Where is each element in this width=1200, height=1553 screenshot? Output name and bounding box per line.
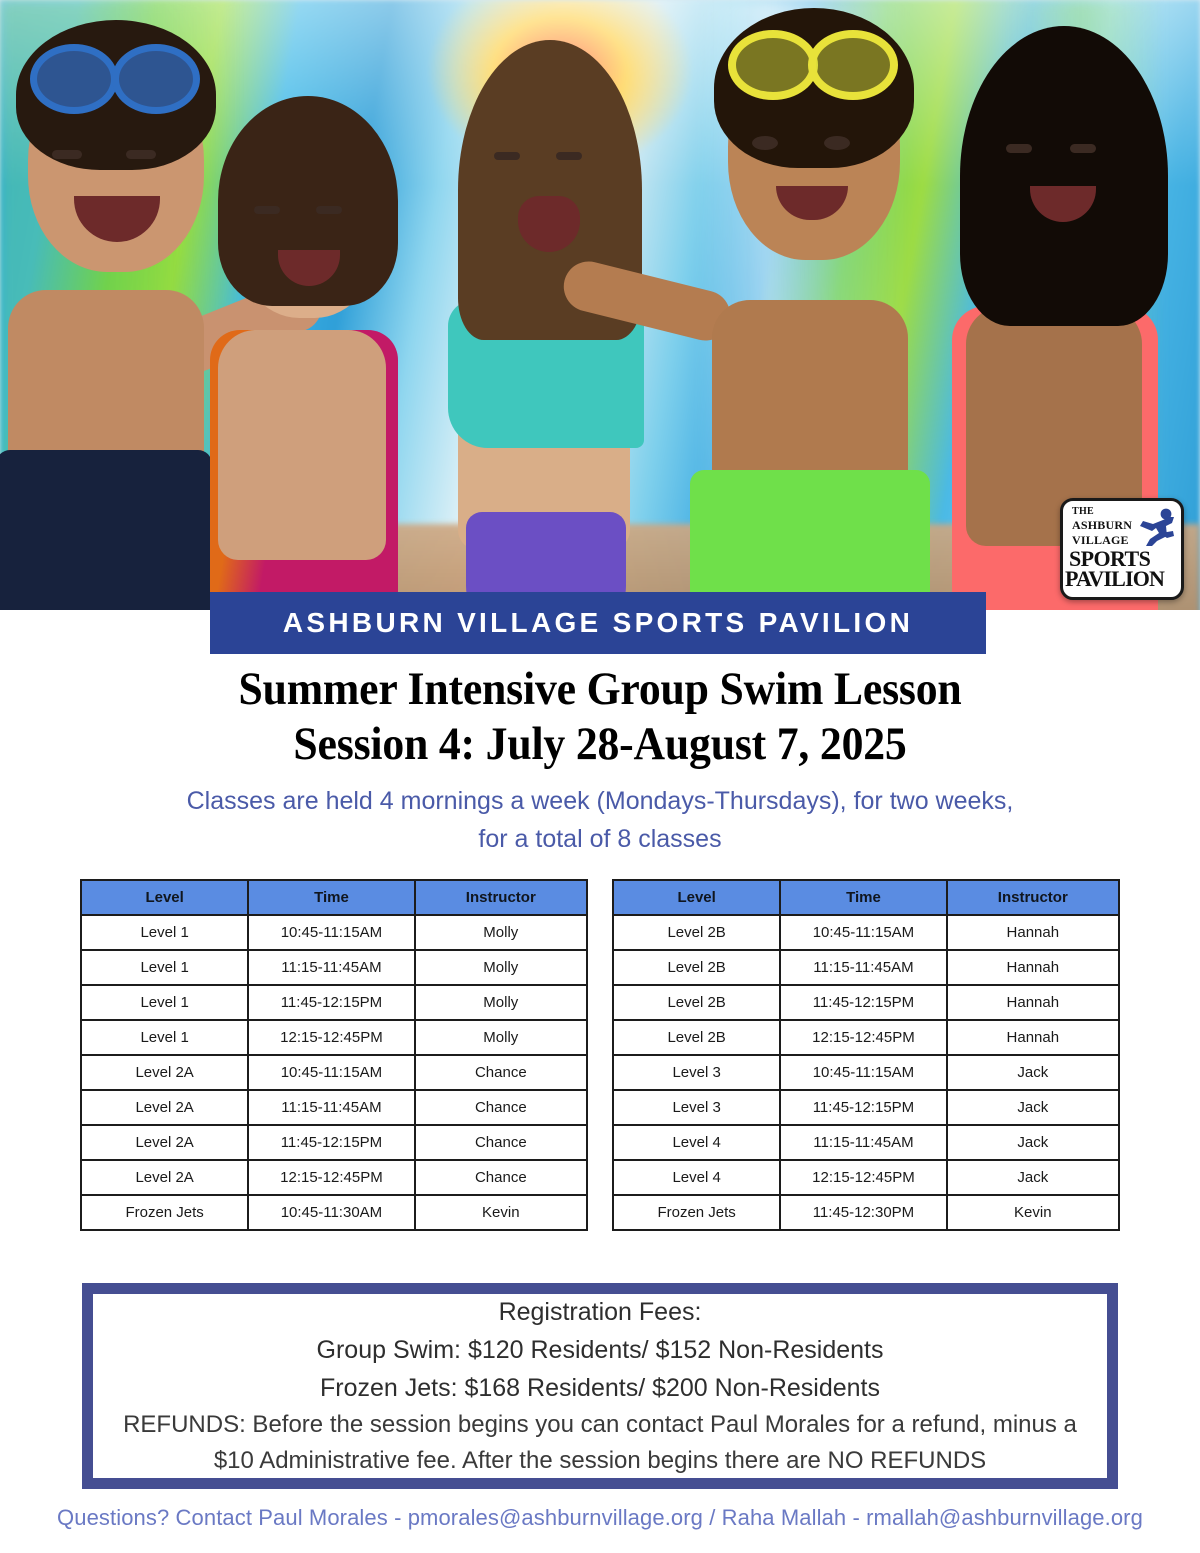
- cell-level: Level 1: [81, 950, 248, 985]
- eye: [254, 206, 280, 214]
- logo-pavilion-text: PAVILION: [1065, 568, 1164, 589]
- organization-banner: ASHBURN VILLAGE SPORTS PAVILION: [210, 592, 986, 654]
- cell-instructor: Kevin: [947, 1195, 1119, 1230]
- eye: [126, 150, 156, 159]
- sports-pavilion-logo: THE ASHBURN VILLAGE SPORTS PAVILION: [1060, 498, 1184, 600]
- cell-level: Level 2B: [613, 950, 780, 985]
- cell-instructor: Molly: [415, 915, 587, 950]
- goggles-icon: [808, 30, 898, 100]
- cell-time: 11:45-12:15PM: [780, 985, 946, 1020]
- logo-the-text: THE: [1072, 506, 1094, 517]
- cell-level: Level 2B: [613, 1020, 780, 1055]
- torso: [218, 330, 386, 560]
- column-header-level: Level: [81, 880, 248, 915]
- eye: [494, 152, 520, 160]
- cell-time: 11:15-11:45AM: [248, 950, 414, 985]
- table-row: Level 311:45-12:15PMJack: [613, 1090, 1119, 1125]
- cell-time: 11:15-11:45AM: [780, 950, 946, 985]
- eye: [316, 206, 342, 214]
- cell-instructor: Chance: [415, 1125, 587, 1160]
- cell-level: Level 4: [613, 1160, 780, 1195]
- title-line-2: Session 4: July 28-August 7, 2025: [42, 717, 1158, 772]
- column-header-time: Time: [248, 880, 414, 915]
- fees-group-swim: Group Swim: $120 Residents/ $152 Non-Res…: [317, 1331, 884, 1369]
- column-header-time: Time: [780, 880, 946, 915]
- child-boy-green-shorts: [672, 0, 952, 620]
- cell-instructor: Molly: [415, 1020, 587, 1055]
- cell-level: Level 3: [613, 1090, 780, 1125]
- table-row: Level 2B11:45-12:15PMHannah: [613, 985, 1119, 1020]
- page-subtitle: Classes are held 4 mornings a week (Mond…: [110, 782, 1090, 858]
- swim-shorts: [0, 450, 212, 620]
- table-row: Level 412:15-12:45PMJack: [613, 1160, 1119, 1195]
- table-row: Level 2A11:15-11:45AMChance: [81, 1090, 587, 1125]
- table-row: Level 110:45-11:15AMMolly: [81, 915, 587, 950]
- table-row: Level 2A12:15-12:45PMChance: [81, 1160, 587, 1195]
- subtitle-line-2: for a total of 8 classes: [110, 820, 1090, 858]
- schedule-table-left: LevelTimeInstructor Level 110:45-11:15AM…: [80, 879, 588, 1231]
- cell-instructor: Molly: [415, 950, 587, 985]
- cell-level: Level 1: [81, 985, 248, 1020]
- cell-level: Frozen Jets: [613, 1195, 780, 1230]
- table-row: Level 111:15-11:45AMMolly: [81, 950, 587, 985]
- table-row: Level 411:15-11:45AMJack: [613, 1125, 1119, 1160]
- eye: [1006, 144, 1032, 153]
- column-header-level: Level: [613, 880, 780, 915]
- cell-instructor: Hannah: [947, 1020, 1119, 1055]
- cell-instructor: Kevin: [415, 1195, 587, 1230]
- table-row: Level 2B11:15-11:45AMHannah: [613, 950, 1119, 985]
- cell-time: 11:45-12:15PM: [248, 985, 414, 1020]
- page-title: Summer Intensive Group Swim Lesson Sessi…: [42, 662, 1158, 772]
- cell-level: Level 3: [613, 1055, 780, 1090]
- table-header-row: LevelTimeInstructor: [613, 880, 1119, 915]
- column-header-instructor: Instructor: [947, 880, 1119, 915]
- table-row: Level 310:45-11:15AMJack: [613, 1055, 1119, 1090]
- cell-level: Level 1: [81, 915, 248, 950]
- cell-time: 10:45-11:15AM: [248, 915, 414, 950]
- cell-level: Level 2A: [81, 1090, 248, 1125]
- cell-time: 10:45-11:15AM: [780, 915, 946, 950]
- cell-time: 11:15-11:45AM: [780, 1125, 946, 1160]
- cell-time: 12:15-12:45PM: [248, 1020, 414, 1055]
- cell-time: 12:15-12:45PM: [248, 1160, 414, 1195]
- eye: [752, 136, 778, 150]
- table-row: Level 2A11:45-12:15PMChance: [81, 1125, 587, 1160]
- eye: [52, 150, 82, 159]
- cell-time: 11:45-12:30PM: [780, 1195, 946, 1230]
- contact-footer: Questions? Contact Paul Morales - pmoral…: [0, 1505, 1200, 1531]
- table-row: Level 2B10:45-11:15AMHannah: [613, 915, 1119, 950]
- cell-time: 10:45-11:30AM: [248, 1195, 414, 1230]
- eye: [556, 152, 582, 160]
- cell-time: 11:15-11:45AM: [248, 1090, 414, 1125]
- subtitle-line-1: Classes are held 4 mornings a week (Mond…: [110, 782, 1090, 820]
- cell-instructor: Hannah: [947, 950, 1119, 985]
- running-figure-icon: [1133, 505, 1177, 547]
- cell-instructor: Jack: [947, 1055, 1119, 1090]
- cell-level: Level 2A: [81, 1125, 248, 1160]
- goggles-icon: [112, 44, 200, 114]
- cell-time: 10:45-11:15AM: [248, 1055, 414, 1090]
- column-header-instructor: Instructor: [415, 880, 587, 915]
- cell-time: 10:45-11:15AM: [780, 1055, 946, 1090]
- table-row: Level 112:15-12:45PMMolly: [81, 1020, 587, 1055]
- cell-instructor: Hannah: [947, 915, 1119, 950]
- fees-title: Registration Fees:: [499, 1293, 702, 1331]
- hero-photo: [0, 0, 1200, 620]
- cell-instructor: Molly: [415, 985, 587, 1020]
- table-row: Frozen Jets10:45-11:30AMKevin: [81, 1195, 587, 1230]
- cell-instructor: Jack: [947, 1160, 1119, 1195]
- refund-policy-line-1: REFUNDS: Before the session begins you c…: [123, 1407, 1077, 1443]
- table-row: Level 2A10:45-11:15AMChance: [81, 1055, 587, 1090]
- eye: [1070, 144, 1096, 153]
- schedule-table-right: LevelTimeInstructor Level 2B10:45-11:15A…: [612, 879, 1120, 1231]
- cell-time: 11:45-12:15PM: [248, 1125, 414, 1160]
- goggles-icon: [728, 30, 818, 100]
- hair: [960, 26, 1168, 326]
- cell-level: Level 2A: [81, 1160, 248, 1195]
- table-row: Level 2B12:15-12:45PMHannah: [613, 1020, 1119, 1055]
- cell-level: Level 2B: [613, 915, 780, 950]
- table-header-row: LevelTimeInstructor: [81, 880, 587, 915]
- cell-instructor: Chance: [415, 1055, 587, 1090]
- cell-level: Level 1: [81, 1020, 248, 1055]
- cell-instructor: Chance: [415, 1160, 587, 1195]
- cell-level: Level 2A: [81, 1055, 248, 1090]
- cell-instructor: Jack: [947, 1125, 1119, 1160]
- eye: [824, 136, 850, 150]
- fees-frozen-jets: Frozen Jets: $168 Residents/ $200 Non-Re…: [320, 1369, 880, 1407]
- cell-level: Frozen Jets: [81, 1195, 248, 1230]
- cell-time: 12:15-12:45PM: [780, 1160, 946, 1195]
- cell-instructor: Hannah: [947, 985, 1119, 1020]
- cell-time: 11:45-12:15PM: [780, 1090, 946, 1125]
- cell-instructor: Jack: [947, 1090, 1119, 1125]
- title-line-1: Summer Intensive Group Swim Lesson: [42, 662, 1158, 717]
- registration-fees-box: Registration Fees: Group Swim: $120 Resi…: [82, 1283, 1118, 1489]
- refund-policy-line-2: $10 Administrative fee. After the sessio…: [214, 1443, 986, 1479]
- organization-name: ASHBURN VILLAGE SPORTS PAVILION: [283, 607, 913, 639]
- child-girl-orange-magenta-suit: [196, 0, 446, 620]
- cell-time: 12:15-12:45PM: [780, 1020, 946, 1055]
- table-row: Frozen Jets11:45-12:30PMKevin: [613, 1195, 1119, 1230]
- cell-level: Level 4: [613, 1125, 780, 1160]
- table-row: Level 111:45-12:15PMMolly: [81, 985, 587, 1020]
- goggles-icon: [30, 44, 118, 114]
- logo-ashburn-text: ASHBURN: [1072, 518, 1132, 533]
- cell-instructor: Chance: [415, 1090, 587, 1125]
- cell-level: Level 2B: [613, 985, 780, 1020]
